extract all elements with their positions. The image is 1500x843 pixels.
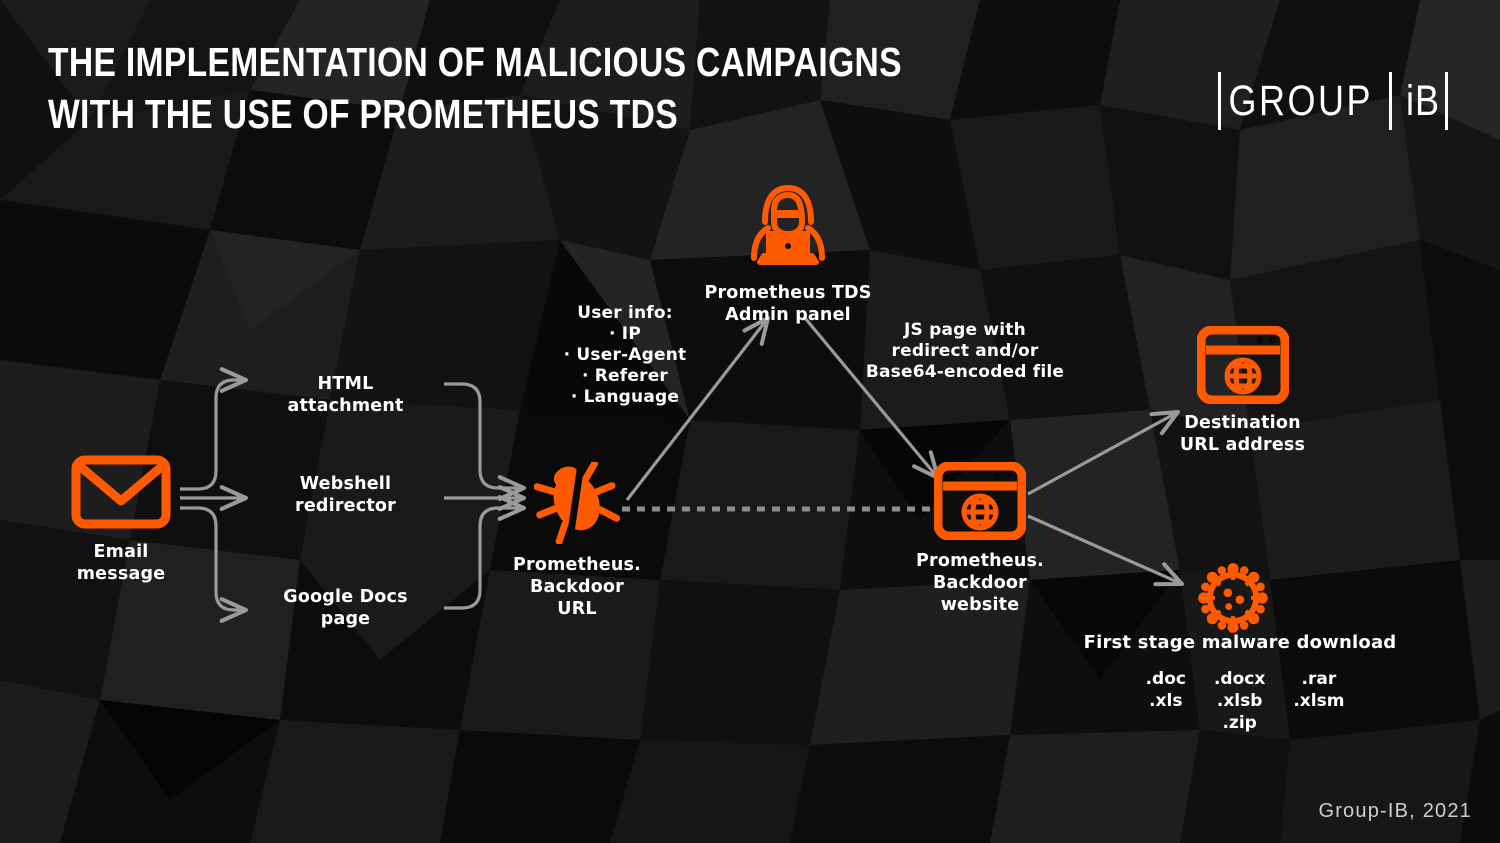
node-first-stage-malware[interactable] (1175, 555, 1290, 641)
logo-word-group: GROUP (1221, 80, 1380, 122)
node-label: Prometheus. Backdoor website (910, 550, 1050, 616)
bug-icon (534, 462, 620, 544)
file-extension: .zip (1214, 712, 1265, 734)
user-info-item: · Referer (530, 366, 720, 387)
browser-globe-icon (1197, 326, 1289, 404)
node-label: Google Docs page (258, 586, 433, 630)
node-label: Prometheus. Backdoor URL (512, 554, 642, 620)
file-extensions-column-2: .docx .xlsb .zip (1214, 668, 1265, 734)
node-email-message[interactable]: Email message (36, 455, 206, 585)
infographic-canvas: THE IMPLEMENTATION OF MALICIOUS CAMPAIGN… (0, 0, 1500, 843)
file-extension: .docx (1214, 668, 1265, 690)
node-prometheus-backdoor-website[interactable]: Prometheus. Backdoor website (910, 462, 1050, 616)
annotation-js-page: JS page with redirect and/or Base64-enco… (845, 320, 1085, 383)
virus-icon (1190, 555, 1276, 641)
malware-label: First stage malware download (1060, 632, 1420, 654)
node-google-docs-page[interactable]: Google Docs page (258, 586, 433, 630)
group-ib-logo: GROUP iB (1218, 72, 1448, 130)
logo-word-ib: iB (1401, 80, 1445, 122)
file-extension: .xlsb (1214, 690, 1265, 712)
file-extensions-column-1: .doc .xls (1146, 668, 1186, 734)
node-label: Email message (36, 541, 206, 585)
node-destination-url[interactable]: Destination URL address (1155, 326, 1330, 456)
file-extension: .doc (1146, 668, 1186, 690)
envelope-icon (71, 455, 171, 529)
node-prometheus-backdoor-url[interactable]: Prometheus. Backdoor URL (512, 462, 642, 620)
node-prometheus-tds-admin-panel[interactable]: Prometheus TDS Admin panel (668, 182, 908, 326)
page-title: THE IMPLEMENTATION OF MALICIOUS CAMPAIGN… (48, 36, 902, 140)
user-info-item: · Language (530, 387, 720, 408)
user-info-list: · IP· User-Agent· Referer· Language (530, 324, 720, 408)
browser-globe-icon (934, 462, 1026, 540)
file-extensions-column-3: .rar .xlsm (1293, 668, 1344, 734)
arrow-site-to-malware (1028, 516, 1182, 584)
file-extension: .rar (1293, 668, 1344, 690)
logo-bar-right (1445, 72, 1448, 130)
node-html-attachment[interactable]: HTML attachment (258, 373, 433, 417)
node-label: First stage malware download (1060, 632, 1420, 654)
node-label: Destination URL address (1155, 412, 1330, 456)
user-info-item: · IP (530, 324, 720, 345)
node-label: Webshell redirector (258, 473, 433, 517)
hacker-icon (738, 182, 838, 274)
js-page-text: JS page with redirect and/or Base64-enco… (845, 320, 1085, 383)
node-webshell-redirector[interactable]: Webshell redirector (258, 473, 433, 517)
logo-bar-middle (1389, 72, 1392, 130)
file-extensions-group: .doc .xls .docx .xlsb .zip .rar .xlsm (1095, 668, 1395, 734)
footer-credit: Group-IB, 2021 (1318, 800, 1472, 823)
file-extension: .xls (1146, 690, 1186, 712)
node-label: HTML attachment (258, 373, 433, 417)
file-extension: .xlsm (1293, 690, 1344, 712)
user-info-item: · User-Agent (530, 345, 720, 366)
